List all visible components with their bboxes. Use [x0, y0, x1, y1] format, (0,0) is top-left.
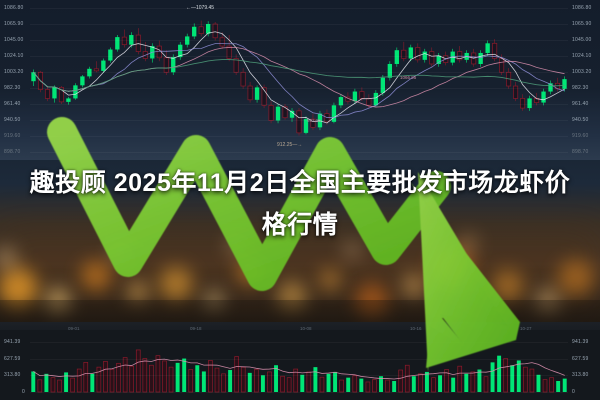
title-line-1: 趣投顾 2025年11月2日全国主要批发市场龙虾价: [0, 162, 600, 204]
title-line-2: 格行情: [0, 204, 600, 246]
page-title: 趣投顾 2025年11月2日全国主要批发市场龙虾价 格行情: [0, 162, 600, 246]
chart-poster: 1086.801065.901045.001024.101003.20982.3…: [0, 0, 600, 400]
